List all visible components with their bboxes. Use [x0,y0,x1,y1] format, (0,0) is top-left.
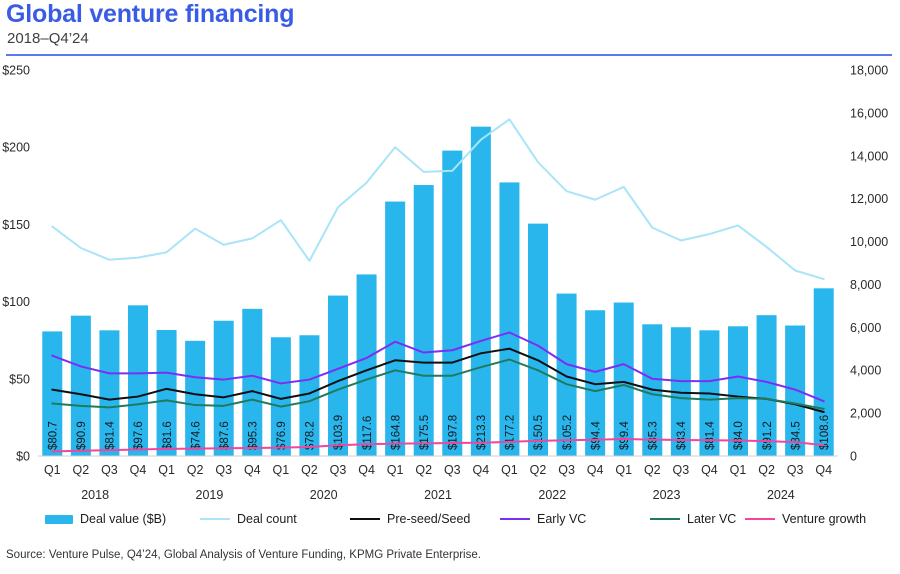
x-axis-quarter-label: Q2 [187,463,204,477]
chart-legend: Deal value ($B)Deal countPre-seed/SeedEa… [0,512,900,538]
bar-value-label: $95.3 [247,421,259,450]
header-divider [6,54,892,56]
right-axis-tick-label: 10,000 [850,235,888,249]
bar-value-label: $94.4 [590,421,602,450]
left-axis-tick-label: $50 [9,372,30,386]
bar-value-label: $80.7 [47,421,59,450]
x-axis-quarter-label: Q1 [615,463,632,477]
bar-value-label: $150.5 [533,415,545,450]
left-axis: $0$50$100$150$200$250 [2,64,30,464]
bar[interactable] [471,127,491,456]
bar-value-label: $164.8 [390,415,402,450]
x-axis-year-label: 2022 [538,488,566,502]
bar-value-label: $97.6 [133,421,145,450]
x-axis-year-label: 2019 [196,488,224,502]
bar-value-label: $81.4 [105,421,117,450]
x-axis-quarter-label: Q4 [815,463,832,477]
legend-swatch-line [745,518,775,520]
x-axis-quarter-label: Q3 [101,463,118,477]
legend-item[interactable]: Later VC [650,512,736,526]
bar-group [42,127,833,456]
x-axis-quarter-label: Q1 [158,463,175,477]
right-axis-tick-label: 12,000 [850,192,888,206]
bar-value-label: $105.2 [562,415,574,450]
x-axis-quarter-label: Q2 [758,463,775,477]
source-note: Source: Venture Pulse, Q4’24, Global Ana… [6,549,481,561]
right-axis-tick-label: 14,000 [850,149,888,163]
x-axis-quarter-label: Q4 [358,463,375,477]
bar-value-label: $87.6 [219,421,231,450]
bar-value-label: $197.8 [447,415,459,450]
x-axis-quarter-label: Q2 [73,463,90,477]
x-axis-quarter-label: Q4 [244,463,261,477]
legend-item[interactable]: Early VC [500,512,586,526]
legend-swatch-line [650,518,680,520]
x-axis-quarter-label: Q1 [387,463,404,477]
legend-label: Pre-seed/Seed [387,512,470,526]
bar-value-label: $90.9 [76,421,88,450]
bar[interactable] [442,151,462,456]
x-axis-year-label: 2023 [653,488,681,502]
x-axis-quarter-label: Q1 [501,463,518,477]
legend-swatch-line [350,518,380,520]
x-axis-quarter-label: Q1 [730,463,747,477]
bar-value-label: $76.9 [276,421,288,450]
bar-value-label: $84.5 [790,421,802,450]
x-axis-quarter-label: Q2 [530,463,547,477]
bar-value-label: $81.6 [162,421,174,450]
right-axis-tick-label: 8,000 [850,278,881,292]
chart-canvas: $0$50$100$150$200$250 02,0004,0006,0008,… [0,58,900,508]
x-axis-quarter-label: Q2 [301,463,318,477]
left-axis-tick-label: $200 [2,141,30,155]
x-axis-quarter-label: Q4 [701,463,718,477]
right-axis: 02,0004,0006,0008,00010,00012,00014,0001… [850,64,888,464]
bar-value-label: $78.2 [305,421,317,450]
bar-value-label: $74.6 [190,421,202,450]
legend-label: Deal value ($B) [80,512,166,526]
x-axis-quarter-label: Q3 [787,463,804,477]
left-axis-tick-label: $150 [2,218,30,232]
line-series[interactable] [52,119,823,279]
legend-swatch-line [500,518,530,520]
left-axis-tick-label: $0 [16,450,30,464]
legend-item[interactable]: Deal value ($B) [45,512,166,526]
legend-swatch-line [200,518,230,520]
bar-value-label: $83.4 [676,421,688,450]
venture-financing-chart: $0$50$100$150$200$250 02,0004,0006,0008,… [0,58,900,508]
legend-item[interactable]: Venture growth [745,512,866,526]
x-axis-quarter-label: Q4 [473,463,490,477]
x-axis-quarter-label: Q3 [330,463,347,477]
x-axis-year-label: 2020 [310,488,338,502]
legend-label: Deal count [237,512,297,526]
legend-swatch-bar [45,515,73,524]
x-axis-quarter-labels: Q1Q2Q3Q4Q1Q2Q3Q4Q1Q2Q3Q4Q1Q2Q3Q4Q1Q2Q3Q4… [44,463,832,477]
left-axis-tick-label: $250 [2,64,30,78]
right-axis-tick-label: 0 [850,450,857,464]
x-axis-quarter-label: Q3 [215,463,232,477]
x-axis-quarter-label: Q4 [130,463,147,477]
x-axis-quarter-label: Q3 [444,463,461,477]
x-axis-quarter-label: Q3 [673,463,690,477]
x-axis-quarter-label: Q4 [587,463,604,477]
legend-item[interactable]: Deal count [200,512,297,526]
x-axis-quarter-label: Q2 [644,463,661,477]
x-axis-quarter-label: Q3 [558,463,575,477]
right-axis-tick-label: 18,000 [850,64,888,78]
legend-label: Later VC [687,512,736,526]
bar-value-label: $99.4 [619,421,631,450]
right-axis-tick-label: 6,000 [850,321,881,335]
bar-value-label: $213.3 [476,415,488,450]
bar-value-label: $91.2 [762,421,774,450]
legend-label: Early VC [537,512,586,526]
x-axis-year-label: 2024 [767,488,795,502]
bar-value-label: $85.3 [647,421,659,450]
legend-label: Venture growth [782,512,866,526]
x-axis-quarter-label: Q1 [273,463,290,477]
bar-value-label: $177.2 [505,415,517,450]
legend-item[interactable]: Pre-seed/Seed [350,512,470,526]
right-axis-tick-label: 4,000 [850,364,881,378]
x-axis-year-label: 2021 [424,488,452,502]
x-axis-quarter-label: Q1 [44,463,61,477]
x-axis-year-label: 2018 [81,488,109,502]
bar-value-label: $84.0 [733,421,745,450]
x-axis-year-labels: 2018201920202021202220232024 [81,488,795,502]
right-axis-tick-label: 2,000 [850,407,881,421]
page-title: Global venture financing [6,0,294,29]
bar-value-label: $81.4 [705,421,717,450]
bar-value-label: $175.5 [419,415,431,450]
left-axis-tick-label: $100 [2,295,30,309]
page-subtitle: 2018–Q4’24 [7,30,89,47]
right-axis-tick-label: 16,000 [850,106,888,120]
x-axis-quarter-label: Q2 [415,463,432,477]
